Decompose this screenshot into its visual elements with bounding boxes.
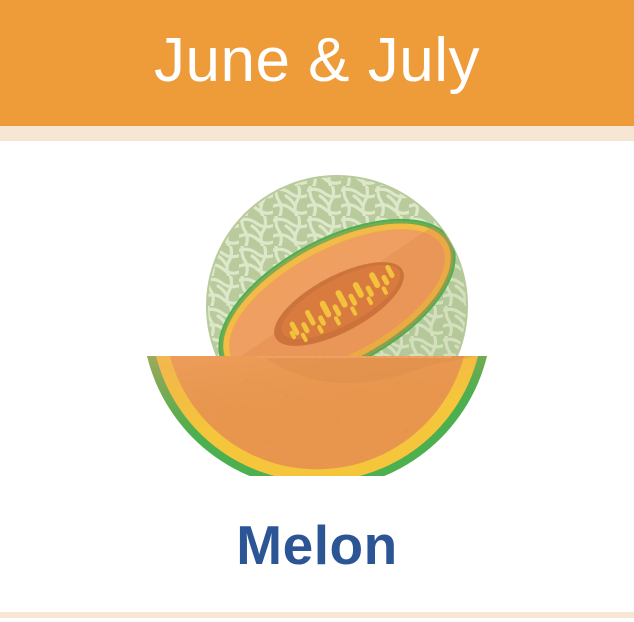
header-underline-divider	[0, 126, 634, 141]
produce-name-label: Melon	[236, 518, 397, 573]
melon-illustration	[137, 156, 497, 476]
illustration-area	[0, 141, 634, 491]
header-band: June & July	[0, 0, 634, 126]
seasonal-produce-card: June & July	[0, 0, 634, 622]
page-title: June & July	[154, 30, 480, 96]
footer-divider	[0, 612, 634, 618]
caption-area: Melon	[0, 495, 634, 595]
melon-wedge-slice	[137, 340, 497, 476]
